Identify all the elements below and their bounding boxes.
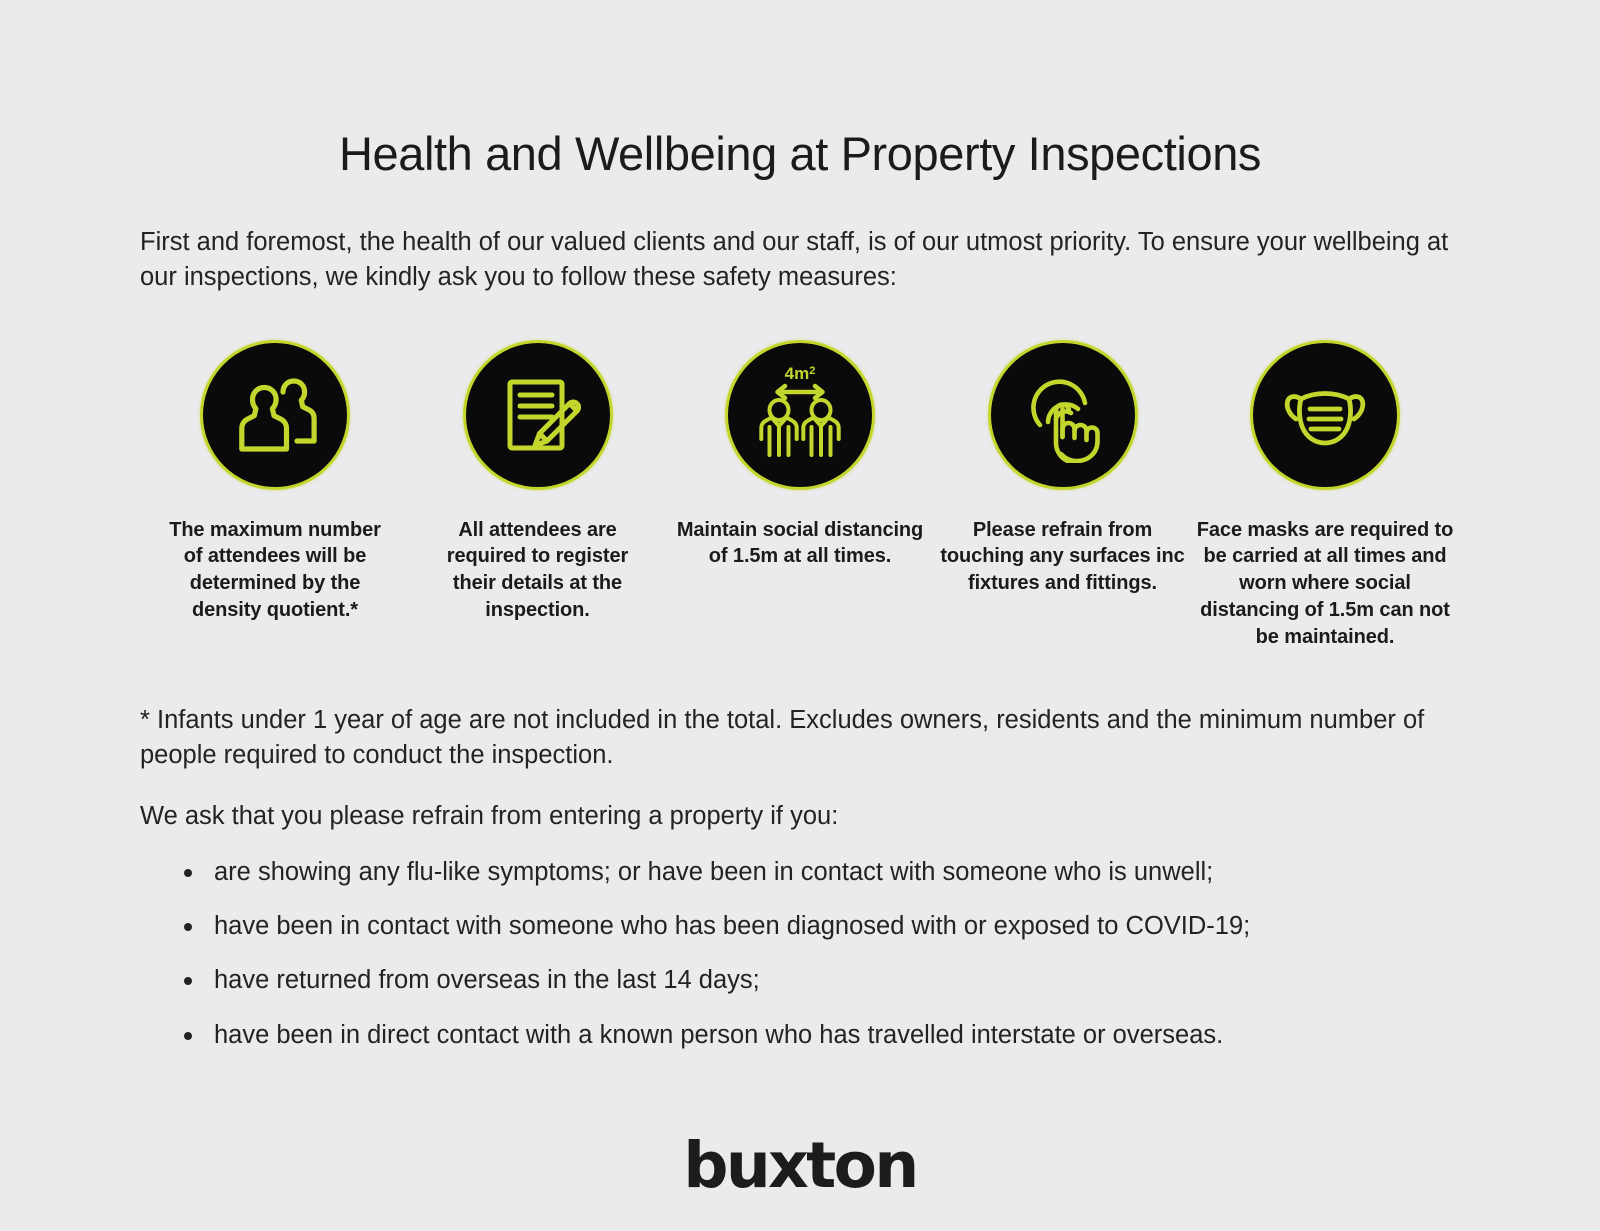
two-people-icon xyxy=(200,340,350,490)
refrain-list: are showing any flu-like symptoms; or ha… xyxy=(140,856,1470,1052)
measure-item-distancing: 4m2 xyxy=(675,340,925,571)
list-item: have been in direct contact with a known… xyxy=(184,1019,1470,1052)
measure-item-face-mask: Face masks are required to be carried at… xyxy=(1200,340,1450,651)
document-pencil-icon xyxy=(463,340,613,490)
list-item-label: have been in contact with someone who ha… xyxy=(214,912,1250,940)
measure-item-no-touching: Please refrain from touching any surface… xyxy=(938,340,1188,597)
face-mask-icon xyxy=(1250,340,1400,490)
footer-logo-wrap: buxton xyxy=(0,1134,1600,1197)
measure-caption: All attendees are required to register t… xyxy=(428,517,648,624)
measure-caption: Maintain social distancing of 1.5m at al… xyxy=(675,517,925,571)
measure-caption: Face masks are required to be carried at… xyxy=(1193,517,1458,651)
bullet-icon xyxy=(184,923,192,931)
list-item-label: have been in direct contact with a known… xyxy=(214,1021,1223,1049)
measure-item-attendees: The maximum number of attendees will be … xyxy=(150,340,400,624)
buxton-logo: buxton xyxy=(683,1134,916,1197)
area-label: 4m2 xyxy=(785,364,816,383)
refrain-lead-in: We ask that you please refrain from ente… xyxy=(140,799,1470,834)
social-distancing-icon: 4m2 xyxy=(725,340,875,490)
list-item: are showing any flu-like symptoms; or ha… xyxy=(184,856,1470,889)
body-copy: * Infants under 1 year of age are not in… xyxy=(130,703,1470,1052)
safety-measures-row: The maximum number of attendees will be … xyxy=(90,340,1510,651)
list-item-label: are showing any flu-like symptoms; or ha… xyxy=(214,858,1213,886)
bullet-icon xyxy=(184,869,192,877)
measure-caption: The maximum number of attendees will be … xyxy=(160,517,390,624)
list-item: have been in contact with someone who ha… xyxy=(184,910,1470,943)
footnote-text: * Infants under 1 year of age are not in… xyxy=(140,703,1470,773)
intro-paragraph: First and foremost, the health of our va… xyxy=(130,225,1470,295)
measure-item-register: All attendees are required to register t… xyxy=(413,340,663,624)
touch-hand-icon xyxy=(988,340,1138,490)
list-item: have returned from overseas in the last … xyxy=(184,964,1470,997)
list-item-label: have returned from overseas in the last … xyxy=(214,966,760,994)
measure-caption: Please refrain from touching any surface… xyxy=(940,517,1185,597)
bullet-icon xyxy=(184,977,192,985)
poster-page: Health and Wellbeing at Property Inspect… xyxy=(0,31,1600,1231)
page-title: Health and Wellbeing at Property Inspect… xyxy=(0,31,1600,180)
bullet-icon xyxy=(184,1032,192,1040)
